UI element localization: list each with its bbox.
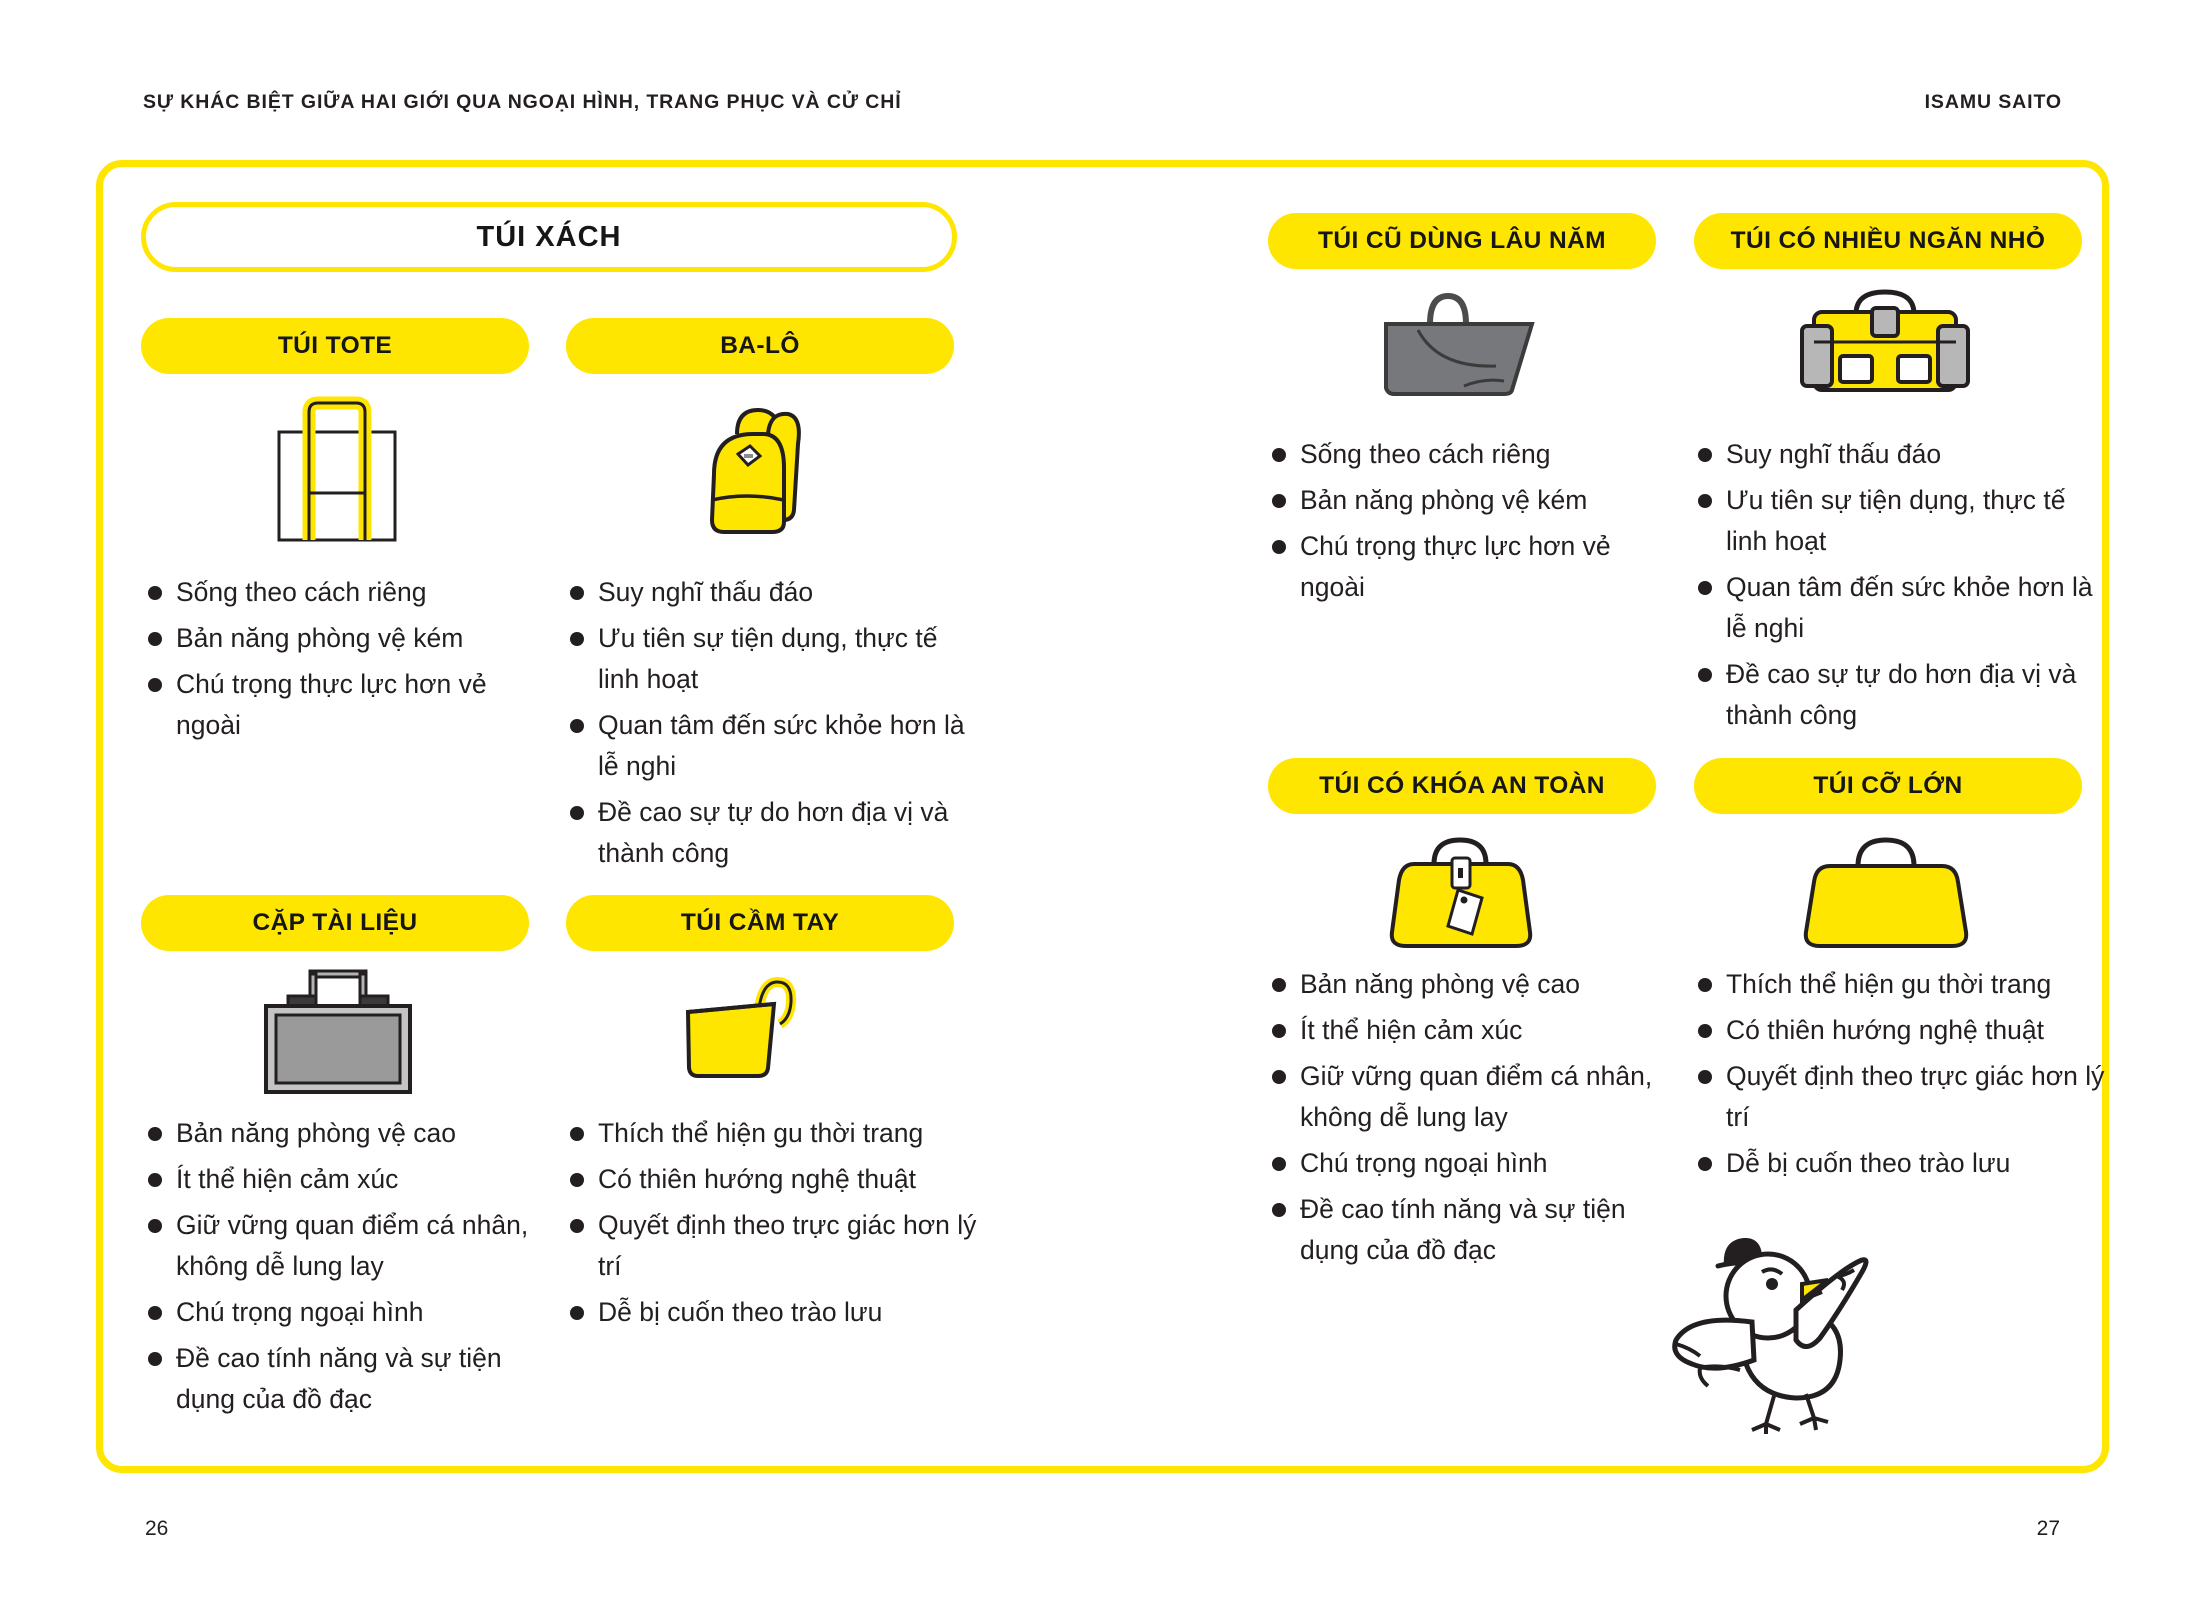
- list-item: Ít thể hiện cảm xúc: [1272, 1010, 1682, 1051]
- list-item: Đề cao sự tự do hơn địa vị và thành công: [570, 792, 980, 874]
- bullet-dot-icon: [570, 1127, 584, 1141]
- bullet-dot-icon: [148, 1352, 162, 1366]
- list-item: Bản năng phòng vệ cao: [148, 1113, 548, 1154]
- list-item: Quyết định theo trực giác hơn lý trí: [1698, 1056, 2108, 1138]
- list-item: Ưu tiên sự tiện dụng, thực tế linh hoạt: [570, 618, 980, 700]
- bullet-dot-icon: [1272, 448, 1286, 462]
- list-item: Suy nghĩ thấu đáo: [1698, 434, 2108, 475]
- bullet-dot-icon: [1698, 978, 1712, 992]
- bird-with-tophat-icon: [1670, 1218, 1920, 1448]
- list-item: Sống theo cách riêng: [148, 572, 548, 613]
- card-label-tui-tote[interactable]: TÚI TOTE: [141, 318, 529, 374]
- list-item: Ít thể hiện cảm xúc: [148, 1159, 548, 1200]
- bullet-dot-icon: [1698, 668, 1712, 682]
- list-item: Giữ vững quan điểm cá nhân, không dễ lun…: [1272, 1056, 1682, 1138]
- bullet-dot-icon: [570, 586, 584, 600]
- bullet-dot-icon: [570, 719, 584, 733]
- card-label-tui-co-khoa-an-toan[interactable]: TÚI CÓ KHÓA AN TOÀN: [1268, 758, 1656, 814]
- card-label-ba-lo[interactable]: BA-LÔ: [566, 318, 954, 374]
- bullet-dot-icon: [148, 586, 162, 600]
- section-title-tui-xach: TÚI XÁCH: [141, 202, 957, 272]
- bullet-dot-icon: [570, 1219, 584, 1233]
- list-item: Thích thể hiện gu thời trang: [1698, 964, 2108, 1005]
- bullet-dot-icon: [1698, 448, 1712, 462]
- list-item: Sống theo cách riêng: [1272, 434, 1672, 475]
- list-item: Ưu tiên sự tiện dụng, thực tế linh hoạt: [1698, 480, 2108, 562]
- locked-bag-icon: [1378, 828, 1553, 958]
- bullet-list-cap-tai-lieu: Bản năng phòng vệ cao Ít thể hiện cảm xú…: [148, 1113, 548, 1425]
- list-item: Thích thể hiện gu thời trang: [570, 1113, 980, 1154]
- list-item: Suy nghĩ thấu đáo: [570, 572, 980, 613]
- bullet-dot-icon: [148, 1127, 162, 1141]
- bullet-list-tui-co-lon: Thích thể hiện gu thời trang Có thiên hư…: [1698, 964, 2108, 1189]
- bullet-dot-icon: [1698, 494, 1712, 508]
- list-item: Đề cao sự tự do hơn địa vị và thành công: [1698, 654, 2108, 736]
- tote-bag-icon: [252, 392, 422, 552]
- large-bag-icon: [1800, 828, 1975, 958]
- bullet-dot-icon: [570, 1173, 584, 1187]
- card-label-cap-tai-lieu[interactable]: CẶP TÀI LIỆU: [141, 895, 529, 951]
- list-item: Quan tâm đến sức khỏe hơn là lễ nghi: [570, 705, 980, 787]
- bullet-dot-icon: [1272, 978, 1286, 992]
- list-item: Đề cao tính năng và sự tiện dụng của đồ …: [1272, 1189, 1682, 1271]
- bullet-list-ba-lo: Suy nghĩ thấu đáo Ưu tiên sự tiện dụng, …: [570, 572, 980, 879]
- bullet-dot-icon: [1272, 1070, 1286, 1084]
- bullet-dot-icon: [1698, 1024, 1712, 1038]
- list-item: Dễ bị cuốn theo trào lưu: [570, 1292, 980, 1333]
- bullet-dot-icon: [1272, 1203, 1286, 1217]
- list-item: Bản năng phòng vệ kém: [1272, 480, 1672, 521]
- spread-page: SỰ KHÁC BIỆT GIỮA HAI GIỚI QUA NGOẠI HÌN…: [0, 0, 2205, 1615]
- bullet-list-tui-tote: Sống theo cách riêng Bản năng phòng vệ k…: [148, 572, 548, 751]
- bullet-dot-icon: [1698, 581, 1712, 595]
- clutch-bag-icon: [676, 960, 846, 1090]
- bullet-dot-icon: [1272, 1024, 1286, 1038]
- bullet-dot-icon: [1272, 494, 1286, 508]
- running-head-right: ISAMU SAITO: [1925, 91, 2062, 114]
- old-duffel-bag-icon: [1372, 282, 1552, 402]
- list-item: Chú trọng ngoại hình: [1272, 1143, 1682, 1184]
- bullet-dot-icon: [570, 1306, 584, 1320]
- bullet-dot-icon: [570, 632, 584, 646]
- bullet-dot-icon: [1272, 540, 1286, 554]
- bullet-dot-icon: [148, 1306, 162, 1320]
- list-item: Chú trọng thực lực hơn vẻ ngoài: [1272, 526, 1672, 608]
- bullet-list-tui-cu-dung-lau-nam: Sống theo cách riêng Bản năng phòng vệ k…: [1272, 434, 1672, 613]
- briefcase-icon: [248, 968, 428, 1098]
- list-item: Chú trọng thực lực hơn vẻ ngoài: [148, 664, 548, 746]
- bullet-dot-icon: [148, 1173, 162, 1187]
- list-item: Đề cao tính năng và sự tiện dụng của đồ …: [148, 1338, 548, 1420]
- list-item: Bản năng phòng vệ cao: [1272, 964, 1682, 1005]
- bullet-list-tui-cam-tay: Thích thể hiện gu thời trang Có thiên hư…: [570, 1113, 980, 1338]
- bullet-dot-icon: [1698, 1157, 1712, 1171]
- bullet-dot-icon: [148, 1219, 162, 1233]
- list-item: Có thiên hướng nghệ thuật: [570, 1159, 980, 1200]
- page-number-left: 26: [145, 1517, 168, 1541]
- bullet-list-tui-co-khoa-an-toan: Bản năng phòng vệ cao Ít thể hiện cảm xú…: [1272, 964, 1682, 1276]
- bullet-list-tui-co-nhieu-ngan-nho: Suy nghĩ thấu đáo Ưu tiên sự tiện dụng, …: [1698, 434, 2108, 741]
- list-item: Chú trọng ngoại hình: [148, 1292, 548, 1333]
- bullet-dot-icon: [148, 632, 162, 646]
- bullet-dot-icon: [148, 678, 162, 692]
- bullet-dot-icon: [1698, 1070, 1712, 1084]
- backpack-icon: [690, 392, 850, 552]
- list-item: Dễ bị cuốn theo trào lưu: [1698, 1143, 2108, 1184]
- running-head-left: SỰ KHÁC BIỆT GIỮA HAI GIỚI QUA NGOẠI HÌN…: [143, 91, 902, 114]
- page-number-right: 27: [2037, 1517, 2060, 1541]
- card-label-tui-cam-tay[interactable]: TÚI CẦM TAY: [566, 895, 954, 951]
- card-label-tui-cu-dung-lau-nam[interactable]: TÚI CŨ DÙNG LÂU NĂM: [1268, 213, 1656, 269]
- list-item: Giữ vững quan điểm cá nhân, không dễ lun…: [148, 1205, 548, 1287]
- bullet-dot-icon: [570, 806, 584, 820]
- list-item: Bản năng phòng vệ kém: [148, 618, 548, 659]
- list-item: Có thiên hướng nghệ thuật: [1698, 1010, 2108, 1051]
- card-label-tui-co-lon[interactable]: TÚI CỠ LỚN: [1694, 758, 2082, 814]
- list-item: Quan tâm đến sức khỏe hơn là lễ nghi: [1698, 567, 2108, 649]
- card-label-tui-co-nhieu-ngan-nho[interactable]: TÚI CÓ NHIỀU NGĂN NHỎ: [1694, 213, 2082, 269]
- list-item: Quyết định theo trực giác hơn lý trí: [570, 1205, 980, 1287]
- bullet-dot-icon: [1272, 1157, 1286, 1171]
- multi-pocket-bag-icon: [1790, 282, 1980, 402]
